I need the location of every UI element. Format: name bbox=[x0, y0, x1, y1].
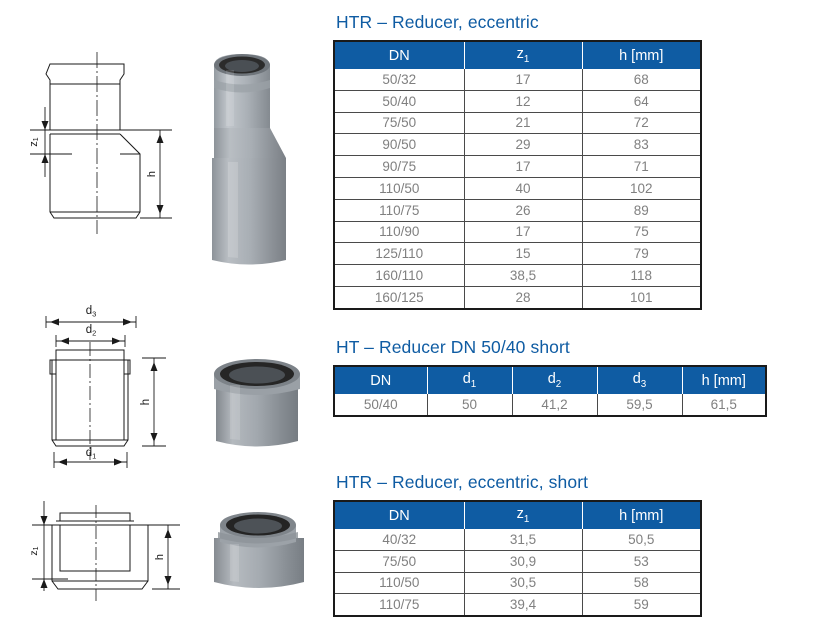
photo-eccentric-reducer bbox=[198, 32, 318, 276]
table-row: 110/901775 bbox=[334, 221, 701, 243]
table-row: 50/401264 bbox=[334, 90, 701, 112]
section-title: HT – Reducer DN 50/40 short bbox=[336, 337, 767, 358]
table-header-row: DN z1 h [mm] bbox=[334, 501, 701, 529]
table-row: 75/5030,953 bbox=[334, 550, 701, 572]
eccentric-reducer-drawing: z1 h bbox=[12, 22, 202, 272]
eccentric-short-reducer-drawing: z1 h bbox=[12, 487, 202, 615]
cell-h: 50,5 bbox=[582, 529, 701, 550]
dimension-label-z1: z1 bbox=[28, 546, 40, 555]
table-row: 90/751771 bbox=[334, 156, 701, 178]
column-header-z1: z1 bbox=[464, 501, 582, 529]
cell-h: 64 bbox=[582, 90, 701, 112]
cell-z1: 30,5 bbox=[464, 572, 582, 594]
cell-dn: 110/75 bbox=[334, 594, 464, 616]
cell-dn: 90/50 bbox=[334, 134, 464, 156]
section-ht-reducer-dn-50-40-short: HT – Reducer DN 50/40 short DN d1 d2 d3 … bbox=[333, 337, 767, 417]
column-header-dn: DN bbox=[334, 501, 464, 529]
cell-h: 61,5 bbox=[682, 394, 766, 416]
cell-dn: 50/32 bbox=[334, 69, 464, 90]
cell-dn: 110/90 bbox=[334, 221, 464, 243]
table-row: 90/502983 bbox=[334, 134, 701, 156]
column-header-h: h [mm] bbox=[682, 366, 766, 394]
cell-dn: 160/110 bbox=[334, 265, 464, 287]
cell-z1: 17 bbox=[464, 156, 582, 178]
section-htr-reducer-eccentric-short: HTR – Reducer, eccentric, short DN z1 h … bbox=[333, 472, 702, 617]
dimension-label-h: h bbox=[154, 554, 166, 560]
cell-z1: 12 bbox=[464, 90, 582, 112]
column-header-dn: DN bbox=[334, 41, 464, 69]
table-row: 110/752689 bbox=[334, 199, 701, 221]
cell-z1: 28 bbox=[464, 286, 582, 308]
cell-h: 68 bbox=[582, 69, 701, 90]
table-header-row: DN z1 h [mm] bbox=[334, 41, 701, 69]
dimension-label-d1: d1 bbox=[86, 447, 97, 461]
cell-dn: 110/75 bbox=[334, 199, 464, 221]
cell-z1: 17 bbox=[464, 69, 582, 90]
cell-dn: 90/75 bbox=[334, 156, 464, 178]
cell-h: 89 bbox=[582, 199, 701, 221]
cell-z1: 40 bbox=[464, 177, 582, 199]
cell-h: 83 bbox=[582, 134, 701, 156]
cell-d3: 59,5 bbox=[597, 394, 682, 416]
dimension-label-d3: d3 bbox=[86, 305, 97, 319]
column-header-h: h [mm] bbox=[582, 41, 701, 69]
section-title: HTR – Reducer, eccentric, short bbox=[336, 472, 702, 493]
cell-z1: 38,5 bbox=[464, 265, 582, 287]
photo-eccentric-short-reducer bbox=[200, 500, 318, 608]
table-header-row: DN d1 d2 d3 h [mm] bbox=[334, 366, 766, 394]
column-header-d3: d3 bbox=[597, 366, 682, 394]
cell-z1: 21 bbox=[464, 112, 582, 134]
table-row: 160/11038,5118 bbox=[334, 265, 701, 287]
table-row: 40/3231,550,5 bbox=[334, 529, 701, 550]
cell-dn: 40/32 bbox=[334, 529, 464, 550]
cell-dn: 50/40 bbox=[334, 394, 427, 416]
cell-dn: 50/40 bbox=[334, 90, 464, 112]
short-reducer-drawing: d3 d2 d1 h bbox=[12, 302, 202, 480]
cell-z1: 26 bbox=[464, 199, 582, 221]
cell-dn: 110/50 bbox=[334, 572, 464, 594]
cell-h: 75 bbox=[582, 221, 701, 243]
cell-dn: 75/50 bbox=[334, 112, 464, 134]
cell-z1: 30,9 bbox=[464, 550, 582, 572]
cell-h: 58 bbox=[582, 572, 701, 594]
table-row: 110/7539,459 bbox=[334, 594, 701, 616]
cell-dn: 110/50 bbox=[334, 177, 464, 199]
cell-h: 101 bbox=[582, 286, 701, 308]
cell-dn: 125/110 bbox=[334, 243, 464, 265]
column-header-h: h [mm] bbox=[582, 501, 701, 529]
cell-h: 59 bbox=[582, 594, 701, 616]
spec-table-htr-reducer-eccentric-short: DN z1 h [mm] 40/3231,550,5 75/5030,953 1… bbox=[333, 500, 702, 617]
table-row: 75/502172 bbox=[334, 112, 701, 134]
dimension-label-h: h bbox=[146, 171, 158, 177]
column-header-dn: DN bbox=[334, 366, 427, 394]
column-header-z1: z1 bbox=[464, 41, 582, 69]
table-row: 110/5040102 bbox=[334, 177, 701, 199]
cell-h: 53 bbox=[582, 550, 701, 572]
cell-z1: 17 bbox=[464, 221, 582, 243]
table-row: 50/40 50 41,2 59,5 61,5 bbox=[334, 394, 766, 416]
spec-table-htr-reducer-eccentric: DN z1 h [mm] 50/321768 50/401264 75/5021… bbox=[333, 40, 702, 310]
cell-h: 118 bbox=[582, 265, 701, 287]
table-row: 110/5030,558 bbox=[334, 572, 701, 594]
table-row: 160/12528101 bbox=[334, 286, 701, 308]
column-header-d2: d2 bbox=[512, 366, 597, 394]
section-title: HTR – Reducer, eccentric bbox=[336, 12, 702, 33]
spec-table-ht-reducer-dn-50-40-short: DN d1 d2 d3 h [mm] 50/40 50 41,2 59,5 61… bbox=[333, 365, 767, 417]
dimension-label-h: h bbox=[140, 399, 152, 405]
table-row: 50/321768 bbox=[334, 69, 701, 90]
column-header-d1: d1 bbox=[427, 366, 512, 394]
cell-d1: 50 bbox=[427, 394, 512, 416]
photo-short-reducer bbox=[200, 345, 314, 465]
cell-dn: 160/125 bbox=[334, 286, 464, 308]
cell-h: 102 bbox=[582, 177, 701, 199]
cell-z1: 29 bbox=[464, 134, 582, 156]
cell-d2: 41,2 bbox=[512, 394, 597, 416]
dimension-label-z1: z1 bbox=[28, 137, 40, 147]
cell-h: 79 bbox=[582, 243, 701, 265]
cell-h: 71 bbox=[582, 156, 701, 178]
cell-z1: 39,4 bbox=[464, 594, 582, 616]
section-htr-reducer-eccentric: HTR – Reducer, eccentric DN z1 h [mm] 50… bbox=[333, 12, 702, 310]
cell-dn: 75/50 bbox=[334, 550, 464, 572]
dimension-label-d2: d2 bbox=[86, 324, 97, 338]
cell-z1: 31,5 bbox=[464, 529, 582, 550]
table-row: 125/1101579 bbox=[334, 243, 701, 265]
cell-h: 72 bbox=[582, 112, 701, 134]
cell-z1: 15 bbox=[464, 243, 582, 265]
